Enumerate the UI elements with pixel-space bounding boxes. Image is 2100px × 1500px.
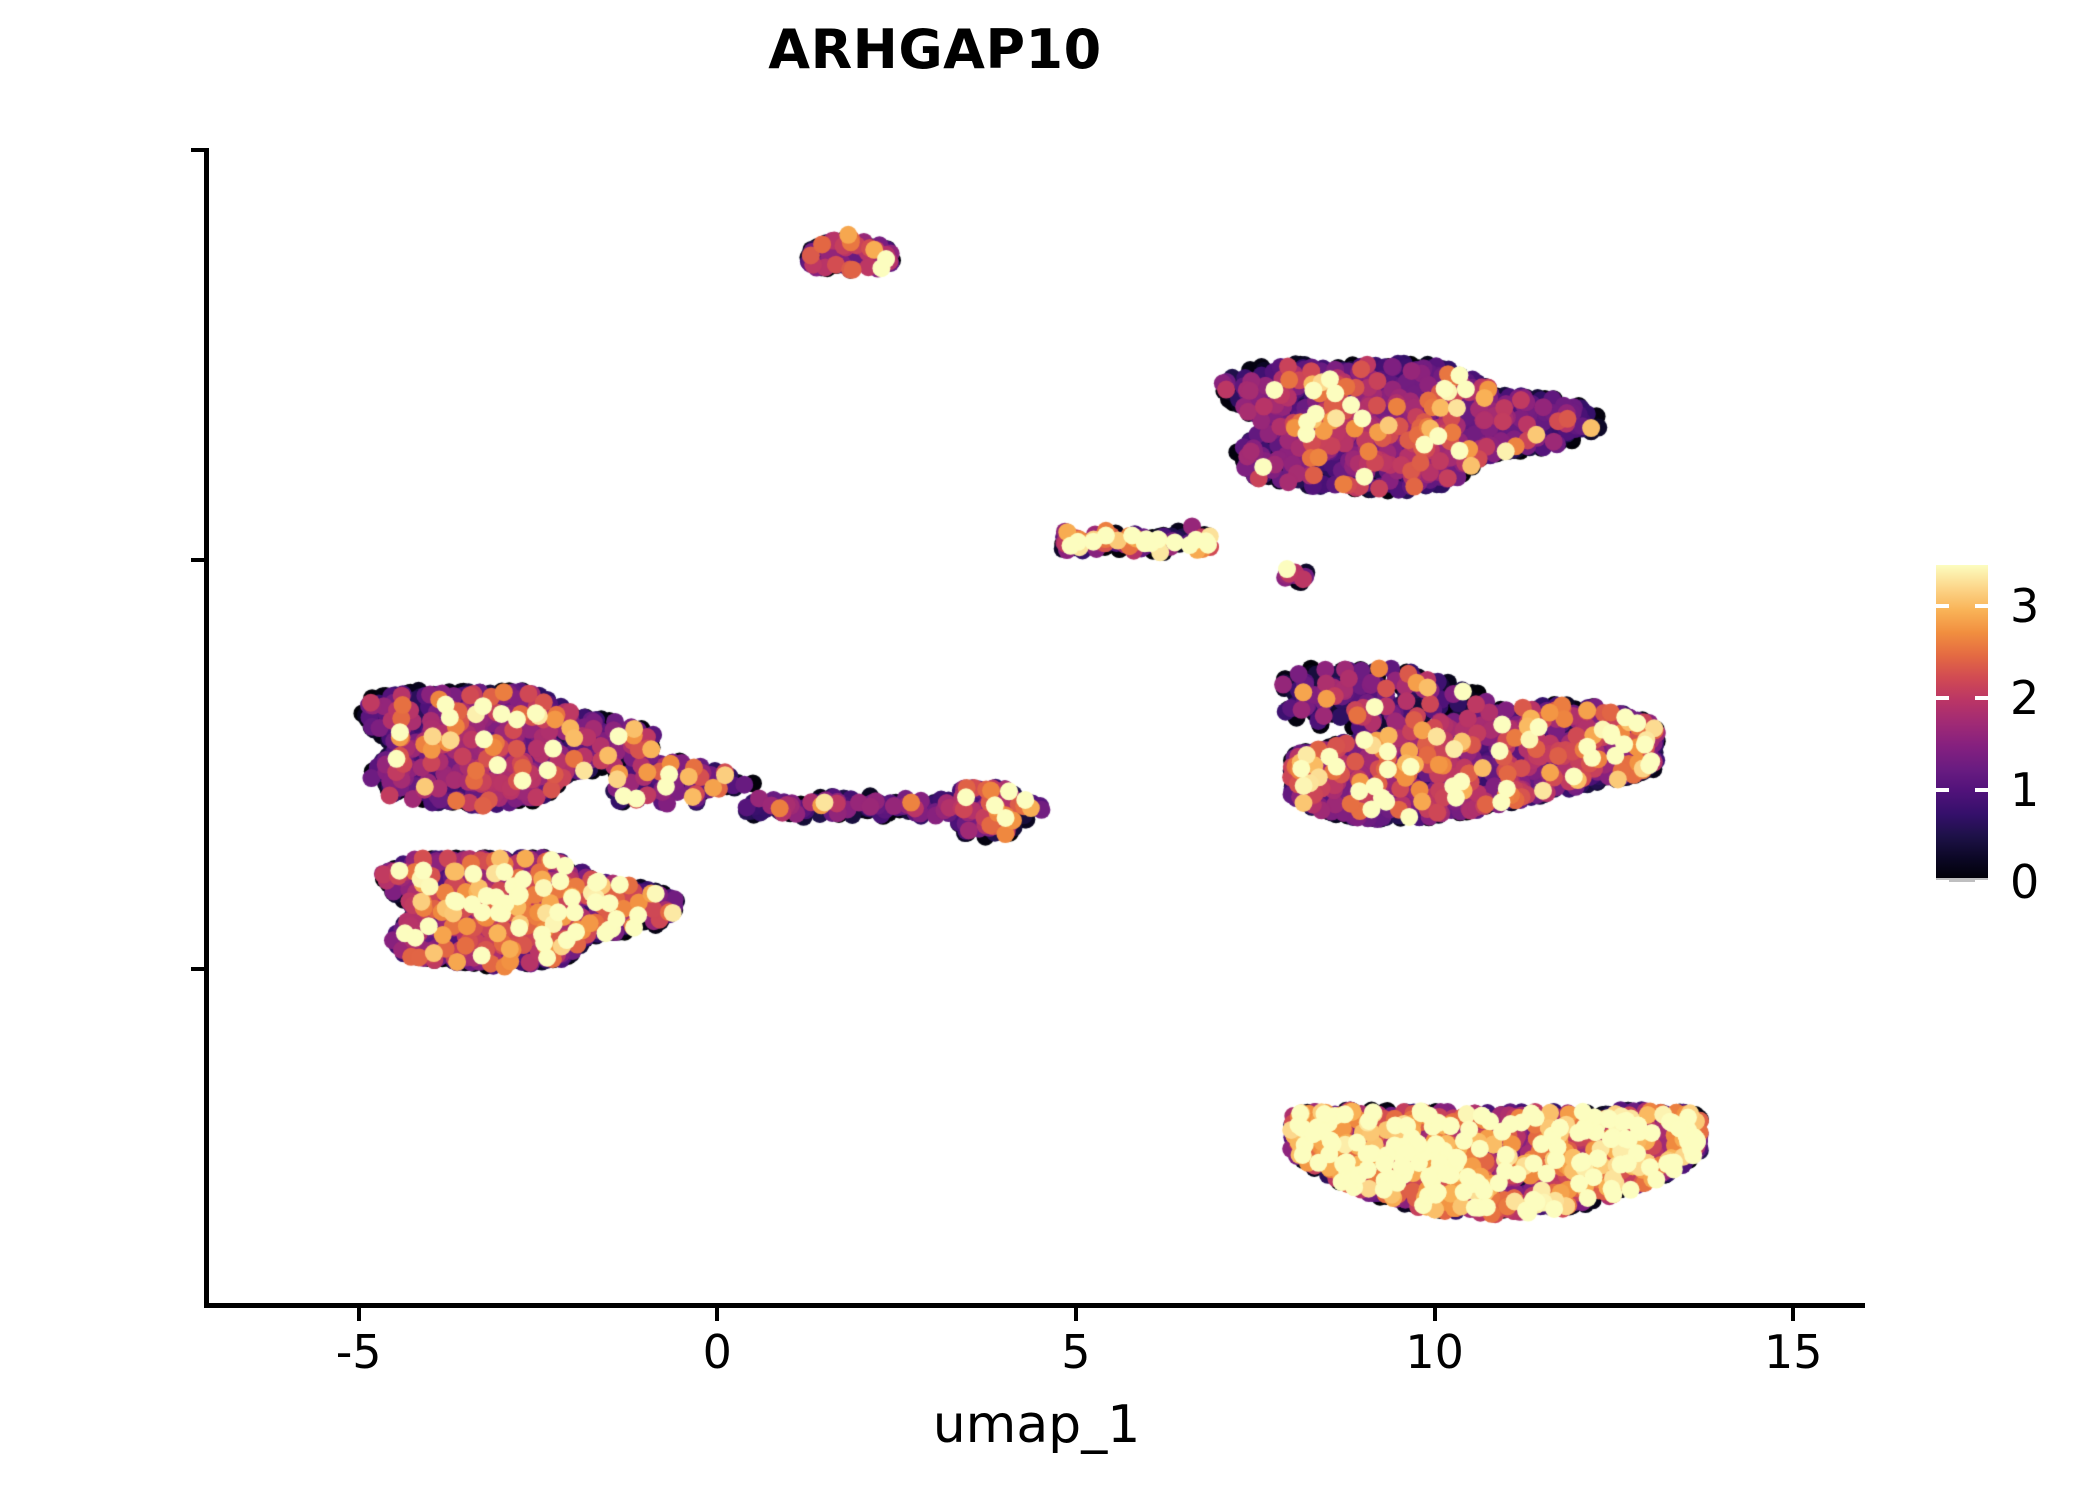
x-tick-label: 0 bbox=[703, 1325, 732, 1379]
colorbar-tick-label: 0 bbox=[2010, 855, 2039, 909]
x-tick-label: -5 bbox=[336, 1325, 382, 1379]
y-axis-spine bbox=[204, 148, 209, 1308]
colorbar: 3210 bbox=[1936, 565, 1988, 882]
plot-axes-area bbox=[208, 150, 1865, 1305]
colorbar-gradient bbox=[1936, 565, 1988, 882]
colorbar-tick-mark bbox=[1975, 604, 1988, 608]
x-tick-label: 15 bbox=[1764, 1325, 1823, 1379]
colorbar-tick-mark bbox=[1936, 880, 1949, 884]
x-tick-mark bbox=[715, 1308, 719, 1321]
x-tick-mark bbox=[1074, 1308, 1078, 1321]
colorbar-tick-mark bbox=[1936, 788, 1949, 792]
y-tick-mark bbox=[191, 967, 204, 971]
x-tick-mark bbox=[1433, 1308, 1437, 1321]
colorbar-tick-mark bbox=[1975, 788, 1988, 792]
x-tick-mark bbox=[357, 1308, 361, 1321]
y-tick-mark bbox=[191, 148, 204, 152]
colorbar-tick-label: 2 bbox=[2010, 671, 2039, 725]
colorbar-tick-label: 3 bbox=[2010, 579, 2039, 633]
page-title: ARHGAP10 bbox=[0, 18, 1870, 81]
x-tick-label: 10 bbox=[1405, 1325, 1464, 1379]
colorbar-tick-mark bbox=[1936, 604, 1949, 608]
x-tick-label: 5 bbox=[1061, 1325, 1090, 1379]
colorbar-tick-mark bbox=[1975, 880, 1988, 884]
colorbar-tick-mark bbox=[1936, 696, 1949, 700]
x-axis-spine bbox=[204, 1303, 1865, 1308]
x-tick-mark bbox=[1791, 1308, 1795, 1321]
colorbar-tick-label: 1 bbox=[2010, 763, 2039, 817]
figure-canvas: ARHGAP10 20100 -5051015 umap_1 umap_2 32… bbox=[0, 0, 2100, 1500]
x-axis-label: umap_1 bbox=[208, 1395, 1865, 1455]
y-tick-mark bbox=[191, 558, 204, 562]
colorbar-tick-mark bbox=[1975, 696, 1988, 700]
scatter-plot-canvas bbox=[208, 150, 1865, 1305]
